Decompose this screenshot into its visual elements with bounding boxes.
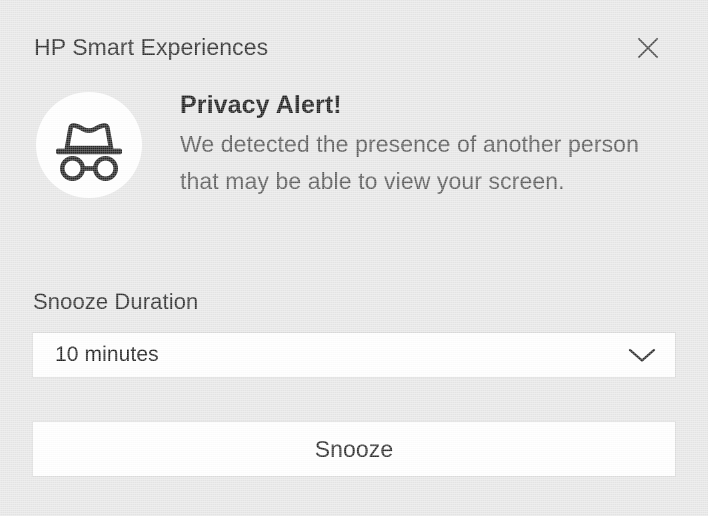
alert-icon-circle <box>36 92 142 198</box>
alert-message: We detected the presence of another pers… <box>180 126 680 200</box>
incognito-hat-glasses-icon <box>48 104 130 186</box>
close-button[interactable] <box>626 26 670 70</box>
privacy-alert-section: Privacy Alert! We detected the presence … <box>0 88 708 258</box>
snooze-button[interactable]: Snooze <box>32 421 676 477</box>
alert-text-block: Privacy Alert! We detected the presence … <box>180 88 680 200</box>
snooze-duration-select[interactable]: 10 minutes <box>32 332 676 378</box>
snooze-duration-label: Snooze Duration <box>33 288 198 316</box>
window-title: HP Smart Experiences <box>34 33 268 61</box>
hp-smart-experiences-dialog: HP Smart Experiences <box>0 0 708 516</box>
alert-title: Privacy Alert! <box>180 88 680 122</box>
snooze-duration-selected-value: 10 minutes <box>55 342 159 368</box>
snooze-button-label: Snooze <box>315 435 394 463</box>
chevron-down-icon[interactable] <box>625 338 659 372</box>
close-icon <box>637 37 659 59</box>
titlebar: HP Smart Experiences <box>0 0 708 86</box>
